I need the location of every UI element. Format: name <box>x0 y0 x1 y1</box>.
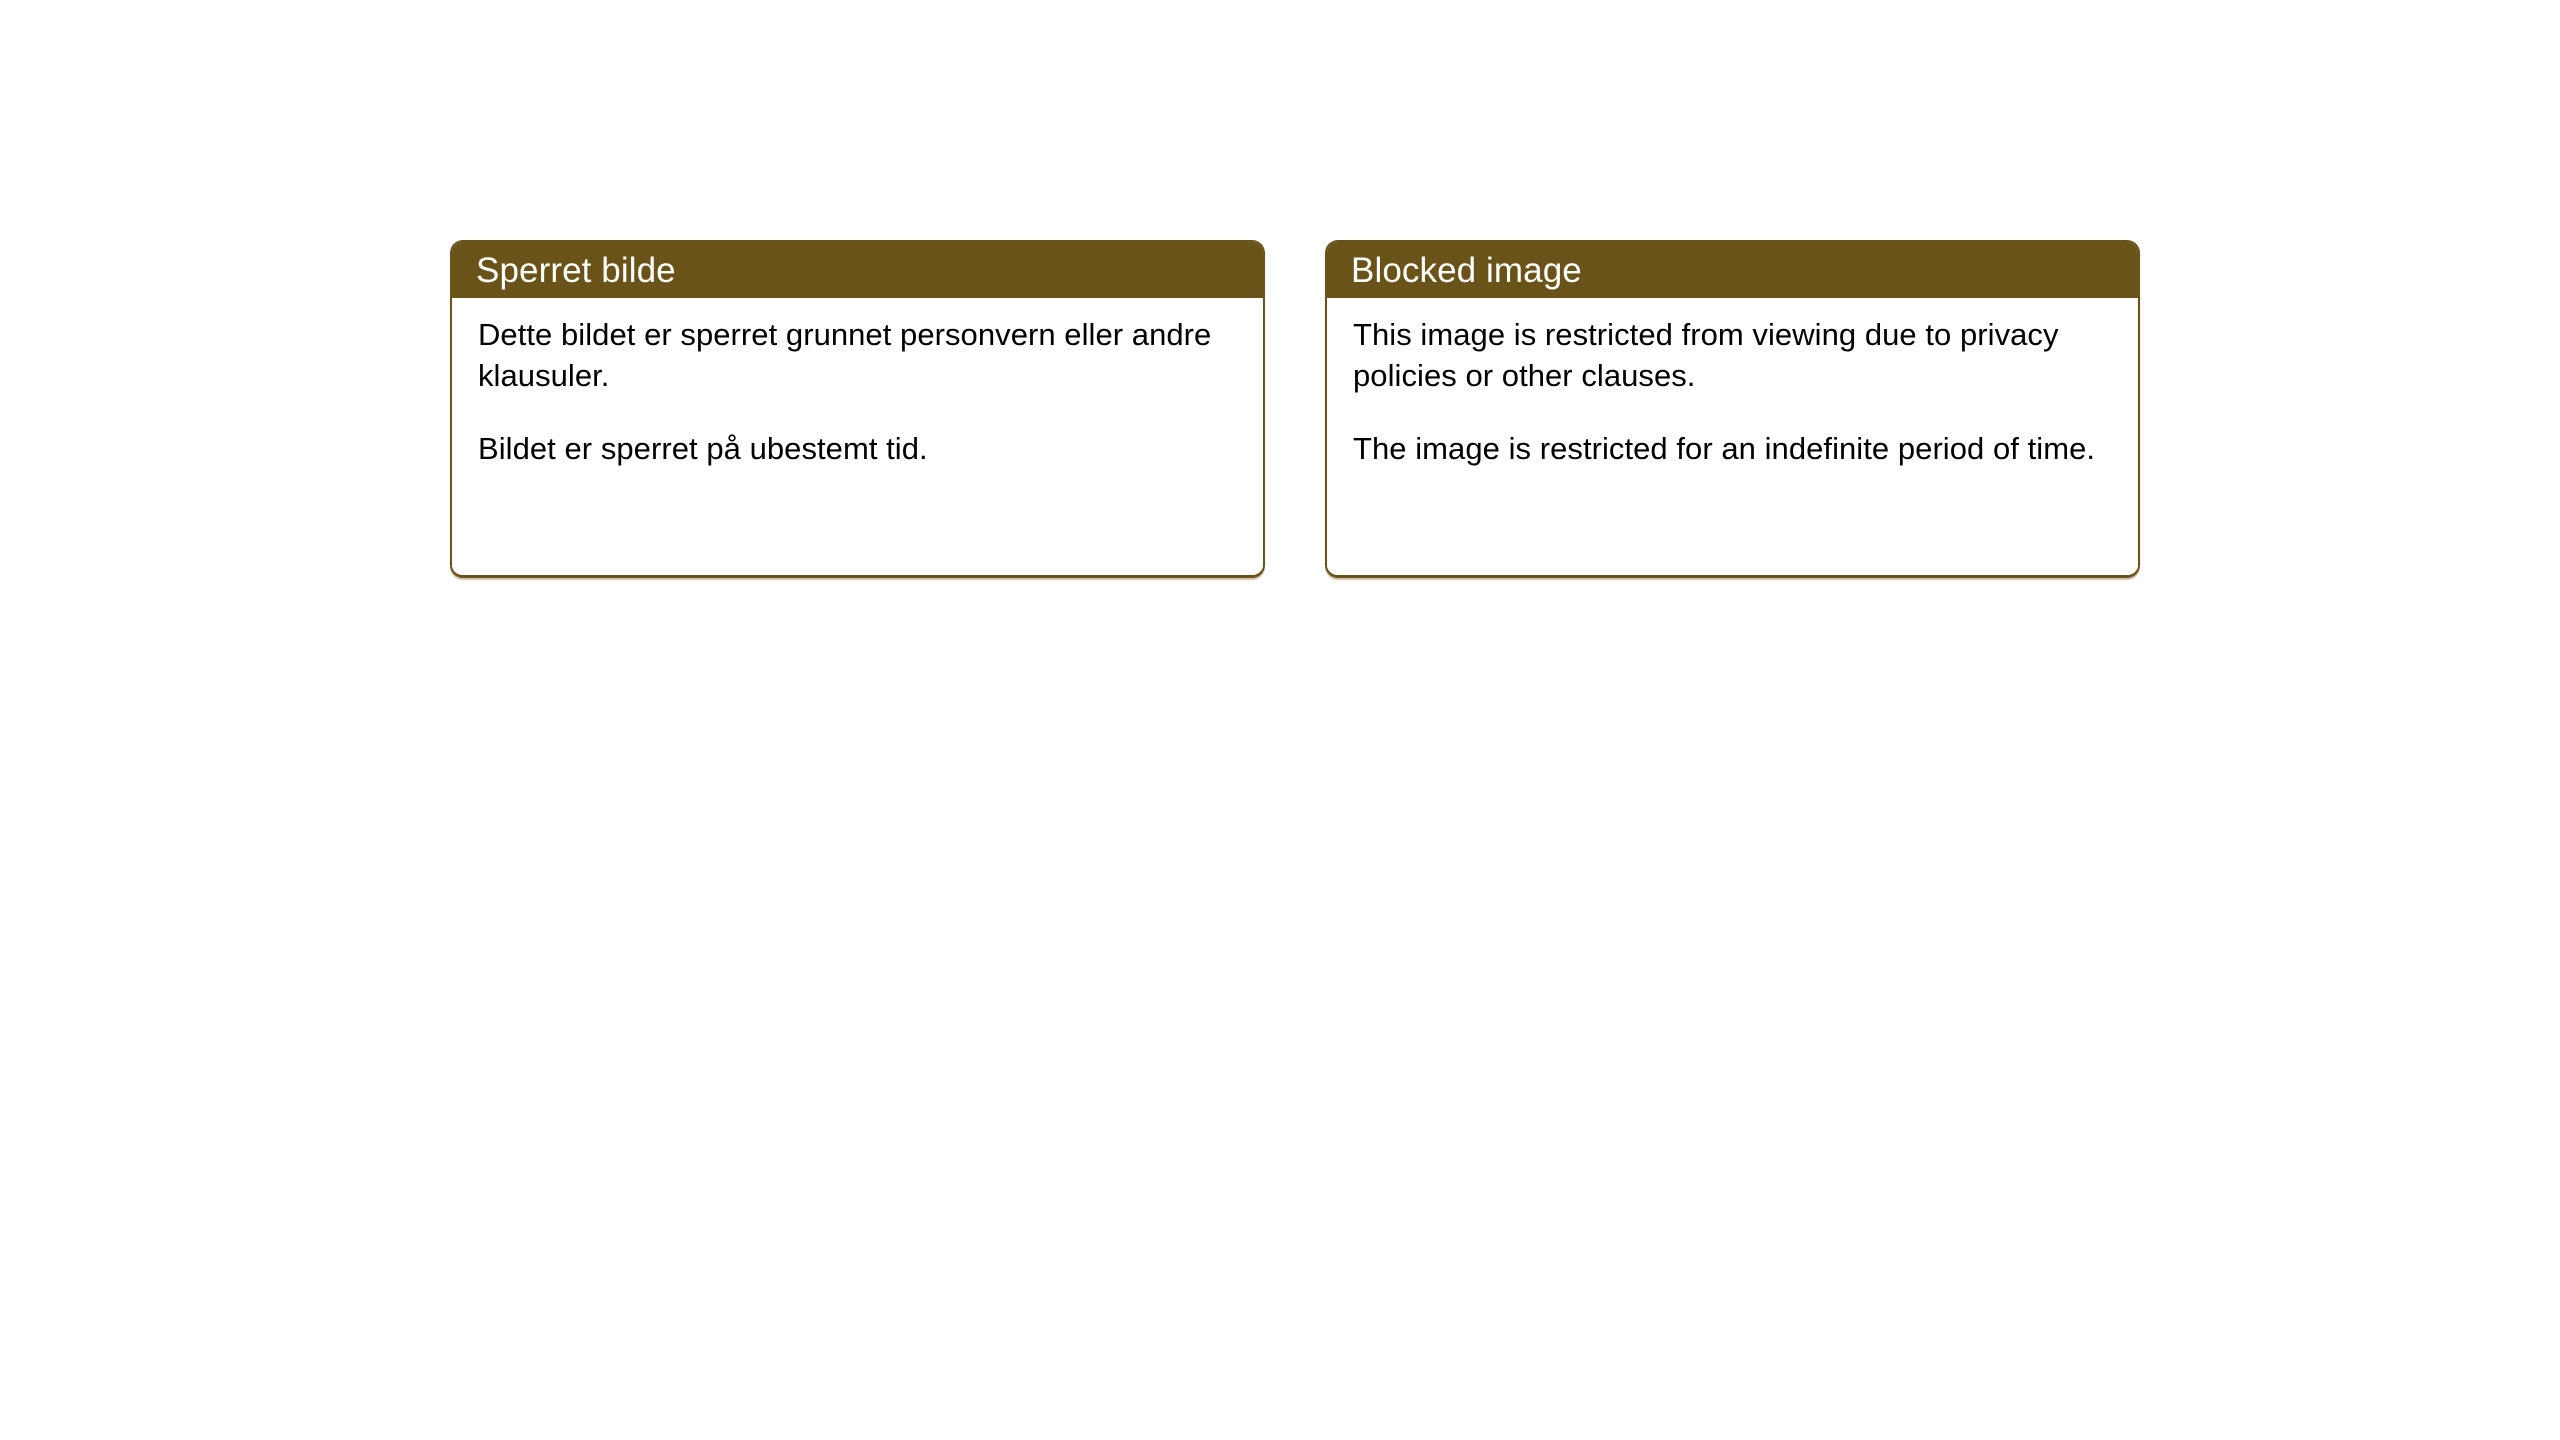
card-title-en: Blocked image <box>1351 253 1582 288</box>
card-paragraph-privacy-en: This image is restricted from viewing du… <box>1353 315 2114 397</box>
card-paragraph-privacy-no: Dette bildet er sperret grunnet personve… <box>478 315 1239 397</box>
card-body-en: This image is restricted from viewing du… <box>1327 298 2138 575</box>
card-body-no: Dette bildet er sperret grunnet personve… <box>452 298 1263 575</box>
card-title-no: Sperret bilde <box>476 253 676 288</box>
notice-cards-row: Sperret bilde Dette bildet er sperret gr… <box>450 240 2140 578</box>
card-paragraph-duration-no: Bildet er sperret på ubestemt tid. <box>478 429 1239 470</box>
blocked-image-notice-card-en: Blocked image This image is restricted f… <box>1325 240 2140 578</box>
card-header-no: Sperret bilde <box>452 242 1263 298</box>
page-root: Sperret bilde Dette bildet er sperret gr… <box>0 0 2560 1440</box>
card-header-en: Blocked image <box>1327 242 2138 298</box>
blocked-image-notice-card-no: Sperret bilde Dette bildet er sperret gr… <box>450 240 1265 578</box>
card-paragraph-duration-en: The image is restricted for an indefinit… <box>1353 429 2114 470</box>
